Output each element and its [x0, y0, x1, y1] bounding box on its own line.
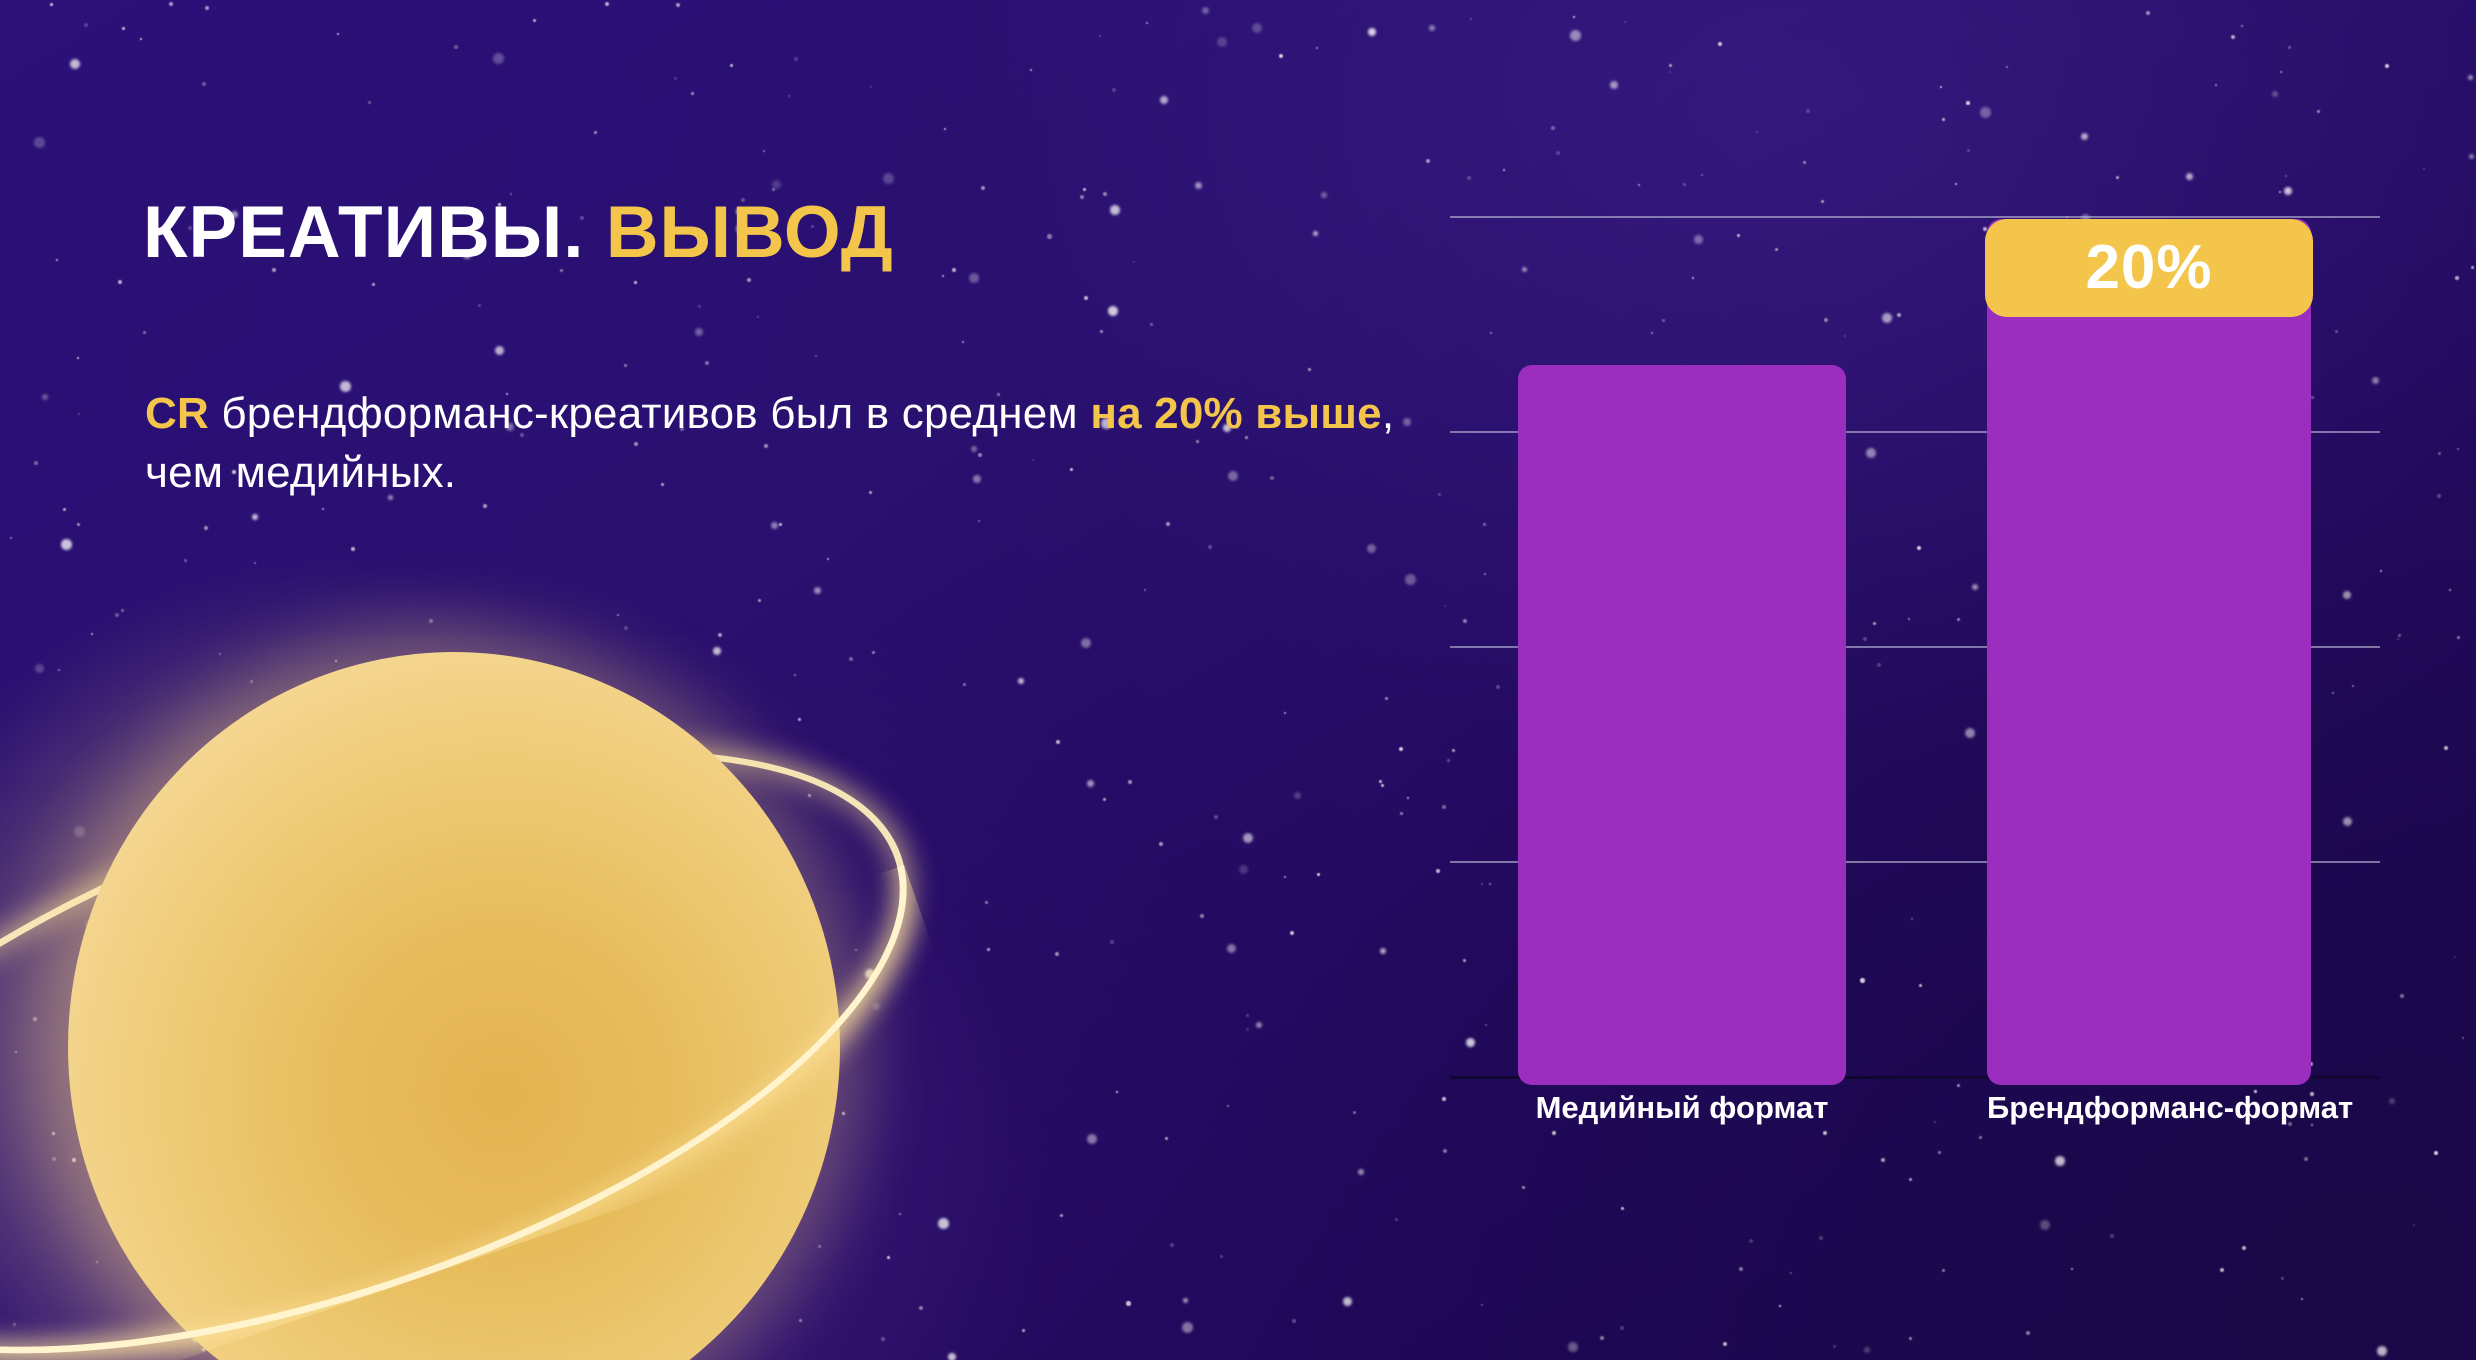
star	[691, 92, 694, 95]
subtitle-text: CR брендформанс-креативов был в среднем …	[145, 385, 1405, 502]
star	[346, 751, 349, 754]
star	[741, 1162, 745, 1166]
star	[1252, 23, 1262, 33]
star	[1407, 797, 1409, 799]
saturn-planet-graphic	[0, 560, 1000, 1360]
star	[202, 82, 206, 86]
star	[899, 1213, 901, 1215]
star	[872, 651, 875, 654]
star	[2377, 1346, 2387, 1356]
star	[638, 950, 640, 952]
star	[204, 526, 208, 530]
star	[849, 657, 853, 661]
star	[1246, 1028, 1249, 1031]
star	[780, 893, 783, 896]
page-title: КРЕАТИВЫ. ВЫВОД	[143, 196, 894, 269]
star	[1022, 1329, 1025, 1332]
star	[413, 661, 419, 667]
star	[1367, 544, 1376, 553]
bar-media-format[interactable]	[1518, 365, 1846, 1085]
star	[337, 33, 339, 35]
star	[1638, 184, 1640, 186]
star	[691, 1314, 695, 1318]
star	[758, 599, 761, 602]
star	[794, 674, 796, 676]
star	[1144, 589, 1146, 591]
star	[1060, 1214, 1063, 1217]
star	[962, 341, 964, 343]
star	[1150, 323, 1153, 326]
star	[1966, 101, 1970, 105]
star	[771, 522, 778, 529]
star	[512, 1242, 516, 1246]
star	[410, 1061, 414, 1065]
star	[1317, 873, 1320, 876]
star	[1669, 64, 1672, 67]
star	[220, 896, 222, 898]
star	[335, 660, 337, 662]
star	[2423, 168, 2425, 170]
star	[182, 1288, 185, 1291]
star	[1108, 306, 1118, 316]
star	[401, 674, 411, 684]
star	[1379, 780, 1382, 783]
star	[1128, 780, 1132, 784]
star	[143, 331, 146, 334]
star	[1099, 35, 1101, 37]
star	[1170, 1243, 1174, 1247]
star	[691, 1216, 694, 1219]
star	[679, 849, 690, 860]
page-title-primary: КРЕАТИВЫ.	[143, 192, 585, 273]
star	[873, 1003, 880, 1010]
star	[1938, 1151, 1941, 1154]
star	[273, 944, 277, 948]
star	[219, 653, 221, 655]
star	[1570, 30, 1581, 41]
star	[1358, 1169, 1364, 1175]
star	[772, 188, 775, 191]
star	[2215, 84, 2217, 86]
star	[1321, 192, 1327, 198]
star	[1701, 174, 1703, 176]
star	[938, 1218, 949, 1229]
star	[668, 890, 671, 893]
star	[1183, 1298, 1188, 1303]
star	[1055, 952, 1059, 956]
star	[1881, 1158, 1885, 1162]
star	[2449, 589, 2451, 591]
star	[2454, 956, 2456, 958]
star	[120, 1055, 131, 1066]
star	[952, 268, 956, 272]
star	[1084, 296, 1088, 300]
star	[763, 150, 765, 152]
star	[74, 826, 85, 837]
star	[1400, 812, 1403, 815]
star	[1202, 7, 1209, 14]
star	[870, 86, 872, 88]
star	[772, 180, 781, 189]
star	[34, 461, 38, 465]
star	[2457, 448, 2459, 450]
star	[1779, 1305, 1781, 1307]
star	[1405, 574, 1416, 585]
star	[815, 355, 817, 357]
star	[1942, 118, 1945, 121]
star	[2389, 1098, 2395, 1104]
star	[2437, 494, 2441, 498]
star	[1909, 1337, 1912, 1340]
star	[1806, 109, 1810, 113]
star	[522, 698, 524, 700]
star	[1624, 21, 1626, 23]
star	[1621, 1207, 1624, 1210]
star	[2455, 276, 2459, 280]
star	[674, 77, 677, 80]
star	[1290, 931, 1294, 935]
star	[1284, 876, 1286, 878]
star	[2285, 175, 2287, 177]
star	[33, 1017, 37, 1021]
star	[1573, 16, 1575, 18]
star	[1718, 42, 1722, 46]
star	[2231, 35, 2235, 39]
subtitle-highlight-uplift: на 20% выше	[1090, 389, 1382, 438]
star	[1284, 712, 1286, 714]
star	[251, 1274, 260, 1283]
page-title-accent: ВЫВОД	[606, 192, 894, 273]
star	[865, 969, 875, 979]
star	[2116, 176, 2119, 179]
star	[1243, 833, 1253, 843]
star	[2279, 191, 2281, 193]
star	[495, 346, 504, 355]
star	[1967, 149, 1970, 152]
star	[208, 1065, 214, 1071]
star	[254, 562, 256, 564]
star	[713, 647, 721, 655]
star	[77, 523, 80, 526]
star	[1208, 545, 1212, 549]
star	[1436, 869, 1440, 873]
star	[2400, 994, 2404, 998]
star	[675, 832, 677, 834]
star	[981, 186, 985, 190]
star	[1110, 205, 1120, 215]
star	[948, 1353, 956, 1360]
star	[478, 304, 481, 307]
planet-ring-front	[0, 627, 980, 1360]
star	[1353, 1111, 1356, 1114]
bar-label-brandformance-format: Брендформанс-формат	[1987, 1090, 2311, 1126]
star	[1756, 131, 1758, 133]
star	[1955, 183, 1957, 185]
star	[596, 1154, 600, 1158]
star	[683, 1340, 686, 1343]
star	[339, 808, 348, 817]
star	[2055, 1156, 2065, 1166]
star	[735, 862, 738, 865]
star	[522, 1358, 524, 1360]
star	[1126, 1301, 1131, 1306]
star	[121, 609, 124, 612]
planet-ring-back	[0, 627, 980, 1360]
star	[1056, 740, 1060, 744]
star	[788, 95, 790, 97]
star	[1214, 815, 1218, 819]
star	[1442, 1097, 1446, 1101]
star	[2444, 746, 2448, 750]
star	[757, 316, 759, 318]
star	[2026, 1331, 2030, 1335]
star	[1803, 161, 1806, 164]
star	[376, 808, 381, 813]
star	[42, 394, 48, 400]
star	[533, 19, 536, 22]
star	[1182, 1322, 1193, 1333]
star	[919, 1306, 923, 1310]
star	[1552, 1131, 1556, 1135]
star	[1683, 183, 1686, 186]
star	[312, 1059, 318, 1065]
star	[96, 1261, 98, 1263]
star	[2457, 636, 2460, 639]
star	[493, 53, 504, 64]
star	[1551, 126, 1555, 130]
star	[351, 547, 355, 551]
star	[1739, 1267, 1743, 1271]
star	[252, 514, 258, 520]
planet-body	[68, 652, 840, 1360]
star	[1030, 69, 1032, 71]
star	[1522, 1186, 1525, 1189]
star	[2272, 91, 2278, 97]
star	[2397, 638, 2399, 640]
star	[118, 280, 122, 284]
star	[58, 669, 60, 671]
star	[322, 508, 324, 510]
star	[1821, 200, 1824, 203]
star	[2110, 1234, 2114, 1238]
star	[84, 23, 88, 27]
star	[35, 664, 44, 673]
star	[1081, 638, 1091, 648]
star	[2462, 1037, 2464, 1039]
star	[10, 537, 12, 539]
star	[471, 1084, 475, 1088]
star	[286, 948, 290, 952]
star	[61, 539, 72, 550]
star	[483, 504, 487, 508]
star	[969, 273, 979, 283]
star	[1381, 784, 1384, 787]
star	[1443, 1149, 1447, 1153]
star	[963, 683, 966, 686]
star	[2284, 187, 2292, 195]
star	[520, 1107, 523, 1110]
star	[647, 1354, 651, 1358]
star	[63, 508, 66, 511]
star	[466, 756, 470, 760]
star	[1467, 176, 1471, 180]
star	[2469, 154, 2474, 159]
star	[425, 926, 430, 931]
star	[1979, 1136, 1982, 1139]
star	[1116, 1091, 1118, 1093]
bar-chart: Медийный формат 20% Брендформанс-формат	[1450, 210, 2380, 1085]
star	[560, 900, 562, 902]
star	[50, 3, 53, 6]
star	[140, 38, 142, 40]
star	[1112, 88, 1116, 92]
star	[1568, 1342, 1578, 1352]
star	[1833, 1345, 1836, 1348]
star	[1503, 169, 1505, 171]
star	[1220, 1255, 1223, 1258]
star	[1313, 231, 1318, 236]
star	[942, 275, 944, 277]
star	[391, 1310, 394, 1313]
star	[624, 626, 628, 630]
star	[747, 1141, 750, 1144]
star	[1620, 1326, 1624, 1330]
star	[794, 57, 798, 61]
star	[1823, 1131, 1827, 1135]
star	[2304, 1157, 2308, 1161]
star	[205, 6, 209, 10]
star	[710, 1316, 714, 1320]
star	[78, 413, 80, 415]
star	[2242, 1246, 2246, 1250]
star	[1940, 86, 1942, 88]
star	[727, 1031, 734, 1038]
star	[808, 794, 811, 797]
star	[779, 523, 782, 526]
star	[1200, 914, 1204, 918]
star	[525, 936, 534, 945]
star	[855, 949, 857, 951]
star	[85, 921, 92, 928]
star	[587, 778, 589, 780]
star	[1942, 1269, 1945, 1272]
bar-value-badge: 20%	[1985, 219, 2313, 317]
star	[429, 619, 433, 623]
star	[1934, 1121, 1936, 1123]
star	[1385, 697, 1388, 700]
star	[2471, 266, 2474, 269]
star	[756, 858, 760, 862]
star	[188, 778, 190, 780]
star	[883, 173, 894, 184]
star	[184, 559, 187, 562]
star	[2413, 1224, 2415, 1226]
star	[454, 45, 458, 49]
star	[1426, 159, 1430, 163]
star	[1087, 780, 1094, 787]
star	[2438, 452, 2441, 455]
star	[539, 1348, 543, 1352]
star	[192, 1336, 198, 1342]
star	[944, 128, 946, 130]
star	[2301, 1298, 2303, 1300]
star	[523, 1044, 525, 1046]
star	[2040, 1220, 2050, 1230]
star	[887, 1256, 890, 1259]
star	[985, 901, 988, 904]
star	[1103, 192, 1107, 196]
star	[1018, 678, 1024, 684]
bar-brandformance-format[interactable]	[1987, 219, 2311, 1085]
star	[502, 992, 504, 994]
star	[202, 1348, 205, 1351]
star	[1246, 1014, 1249, 1017]
star	[2380, 570, 2382, 572]
star	[1380, 948, 1386, 954]
star	[2146, 11, 2150, 15]
star	[1159, 842, 1163, 846]
star	[282, 937, 284, 939]
star	[34, 137, 45, 148]
star	[1556, 151, 1560, 155]
star	[146, 1229, 148, 1231]
star	[1294, 792, 1301, 799]
star	[584, 1065, 592, 1073]
star	[1438, 493, 1441, 496]
star	[516, 749, 518, 751]
star	[1227, 944, 1236, 953]
star	[1279, 54, 1283, 58]
star	[987, 948, 990, 951]
star	[1316, 47, 1318, 49]
star	[1087, 1134, 1097, 1144]
star	[696, 1228, 698, 1230]
star	[1166, 522, 1170, 526]
star	[122, 27, 125, 30]
star	[1470, 18, 1472, 20]
slide-canvas: КРЕАТИВЫ. ВЫВОД CR брендформанс-креативо…	[0, 0, 2476, 1360]
star	[798, 718, 801, 721]
star	[2288, 46, 2291, 49]
star	[461, 1020, 463, 1022]
star	[1819, 1236, 1823, 1240]
star	[115, 613, 119, 617]
star	[814, 587, 821, 594]
star	[52, 1132, 55, 1135]
star	[624, 364, 627, 367]
star	[15, 1051, 17, 1053]
star	[1292, 1319, 1296, 1323]
star	[397, 1342, 399, 1344]
star	[70, 59, 80, 69]
star	[1080, 195, 1084, 199]
star	[827, 558, 829, 560]
star	[1217, 37, 1227, 47]
star	[531, 1234, 534, 1237]
star	[1790, 1272, 1792, 1274]
star	[1239, 865, 1248, 874]
star	[2280, 71, 2282, 73]
star	[368, 101, 371, 104]
star	[1146, 22, 1148, 24]
star	[210, 923, 212, 925]
star	[1165, 1137, 1168, 1140]
star	[1133, 261, 1135, 263]
star	[594, 131, 597, 134]
star	[1083, 188, 1086, 191]
star	[1368, 28, 1376, 36]
bar-value-label: 20%	[2085, 237, 2212, 299]
